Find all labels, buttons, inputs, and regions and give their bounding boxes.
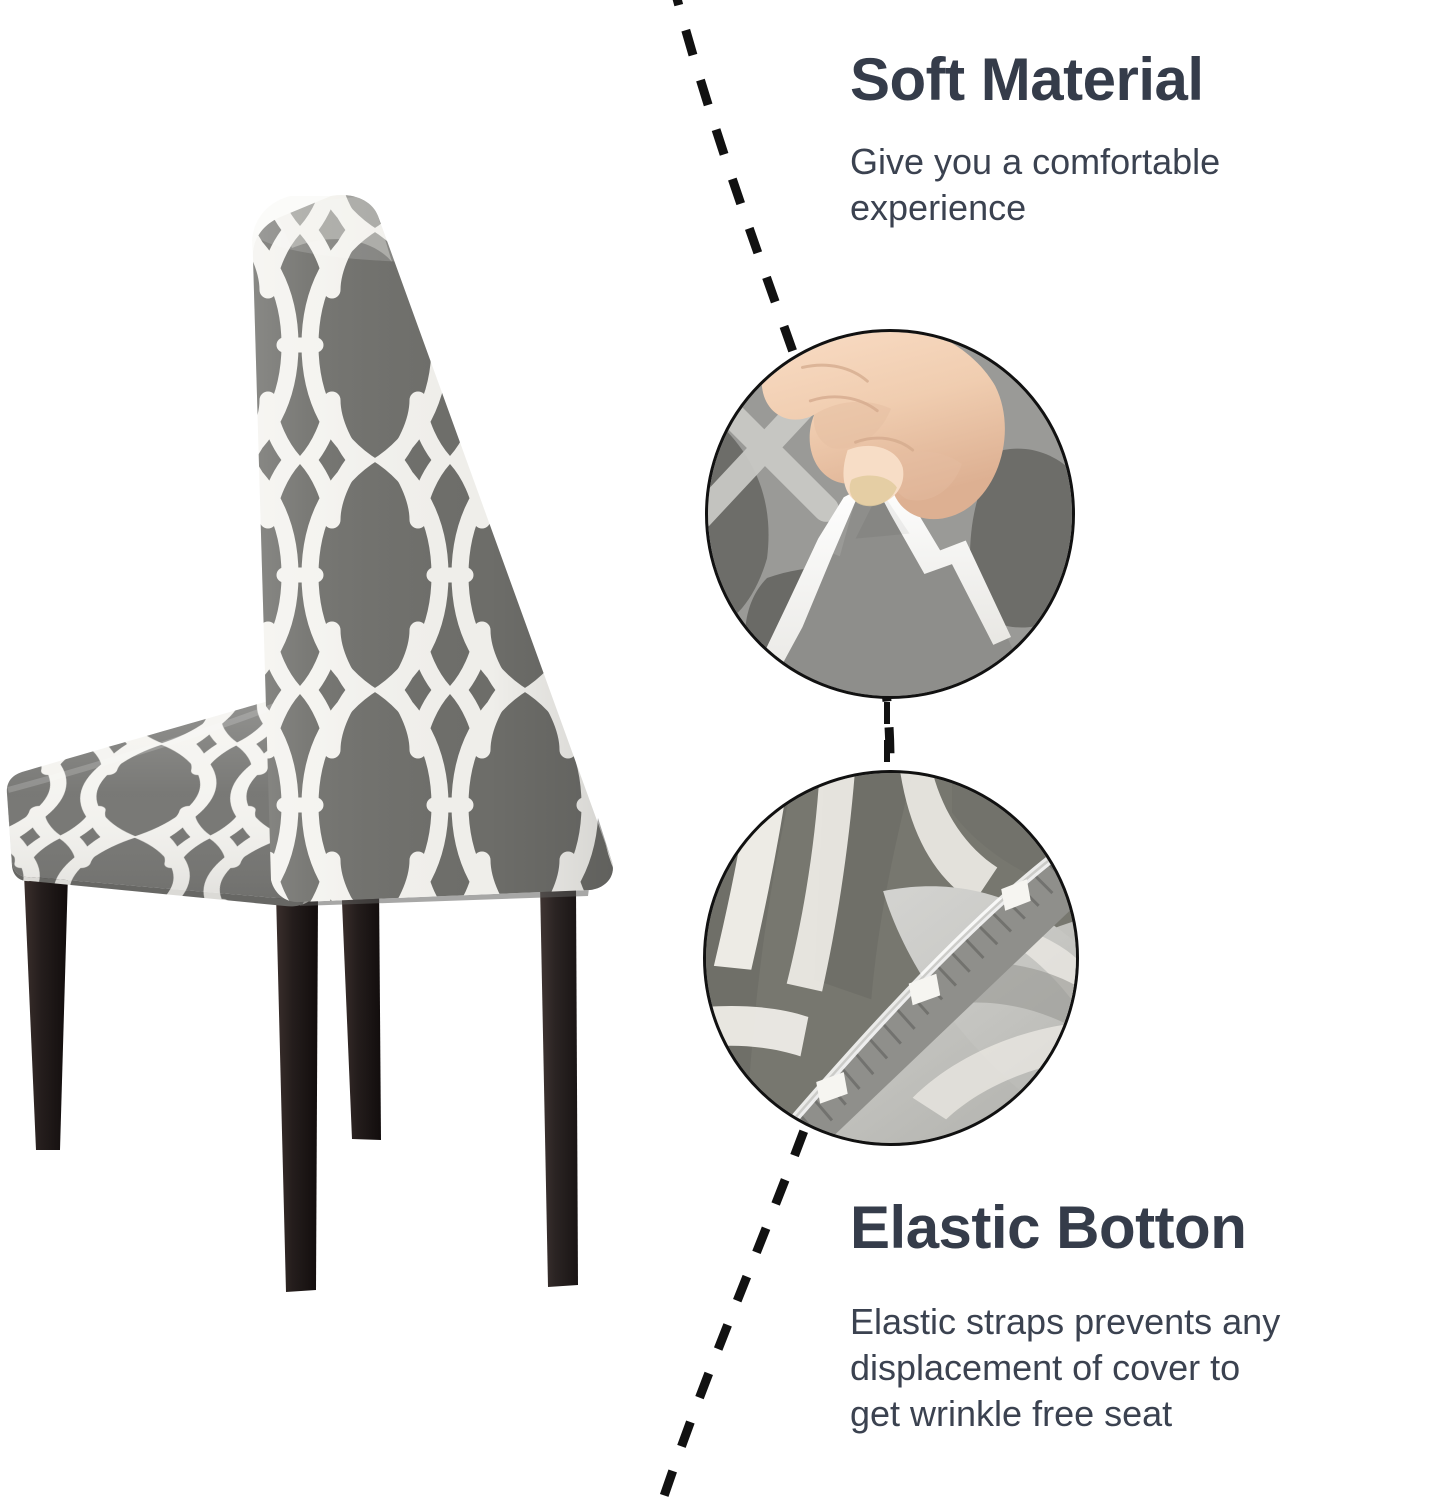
feature-description-line: get wrinkle free seat (850, 1393, 1172, 1434)
feature-text-soft-material: Soft Material Give you a comfortable exp… (850, 48, 1410, 267)
callout-soft-material (705, 329, 1075, 699)
feature-description-soft-material: Give you a comfortable experience (850, 139, 1410, 231)
chair-back (230, 180, 650, 920)
feature-text-elastic-botton: Elastic Botton Elastic straps prevents a… (850, 1196, 1410, 1473)
callout-connector (884, 702, 890, 768)
feature-description-line: displacement of cover to (850, 1347, 1240, 1388)
callout-elastic-botton (703, 770, 1079, 1146)
infographic-canvas: Soft Material Give you a comfortable exp… (0, 0, 1429, 1500)
elastic-hem-icon (706, 773, 1076, 1143)
feature-headline-soft-material: Soft Material (850, 48, 1410, 111)
feature-description-line: Elastic straps prevents any (850, 1301, 1280, 1342)
feature-description-elastic-botton: Elastic straps prevents any displacement… (850, 1299, 1410, 1437)
product-image (0, 0, 660, 1330)
chair-legs (24, 874, 578, 1292)
feature-description-line: experience (850, 187, 1026, 228)
hand-pinching-fabric-icon (708, 332, 1072, 696)
feature-description-line: Give you a comfortable (850, 141, 1220, 182)
feature-headline-elastic-botton: Elastic Botton (850, 1196, 1410, 1259)
